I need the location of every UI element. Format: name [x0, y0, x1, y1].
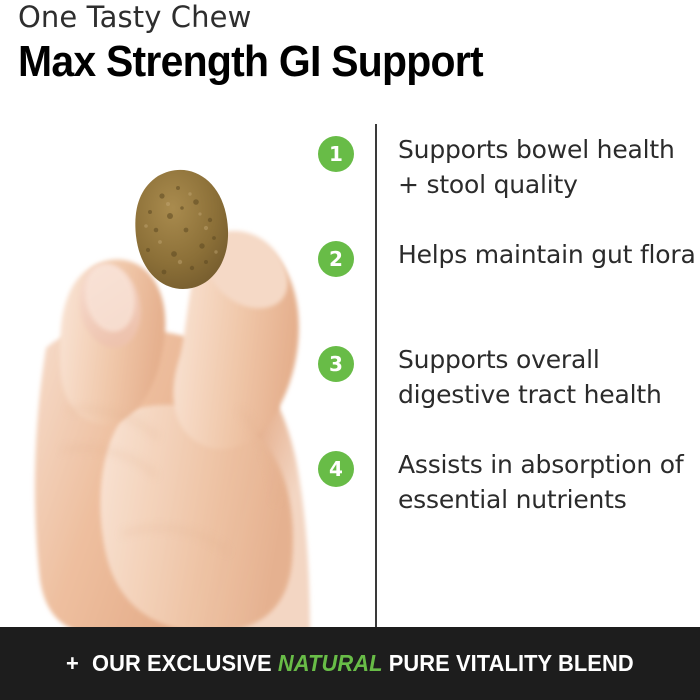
banner-prefix: OUR EXCLUSIVE — [92, 650, 272, 676]
infographic-page: One Tasty Chew Max Strength GI Support — [0, 0, 700, 700]
banner-suffix: PURE VITALITY BLEND — [389, 650, 634, 676]
header: One Tasty Chew Max Strength GI Support — [18, 0, 682, 88]
product-image — [0, 100, 360, 628]
benefit-text: Helps maintain gut flora — [398, 237, 700, 272]
benefit-text: Supports bowel health + stool quality — [398, 132, 700, 202]
list-item: 3 Supports overall digestive tract healt… — [318, 342, 700, 447]
list-item: 4 Assists in absorption of essential nut… — [318, 447, 700, 552]
banner-tagline: OUR EXCLUSIVE NATURAL PURE VITALITY BLEN… — [92, 650, 634, 677]
list-item: 2 Helps maintain gut flora — [318, 237, 700, 342]
page-title: Max Strength GI Support — [18, 36, 636, 88]
banner-highlight: NATURAL — [278, 650, 383, 676]
plus-icon: + — [66, 652, 79, 675]
benefits-list: 1 Supports bowel health + stool quality … — [318, 132, 700, 552]
benefit-text: Assists in absorption of essential nutri… — [398, 447, 700, 517]
benefit-number-badge: 2 — [318, 241, 354, 277]
benefit-number-badge: 1 — [318, 136, 354, 172]
list-item: 1 Supports bowel health + stool quality — [318, 132, 700, 237]
eyebrow-text: One Tasty Chew — [18, 0, 682, 34]
banner-content: + OUR EXCLUSIVE NATURAL PURE VITALITY BL… — [66, 650, 634, 677]
bottom-banner: + OUR EXCLUSIVE NATURAL PURE VITALITY BL… — [0, 627, 700, 700]
benefit-number-badge: 4 — [318, 451, 354, 487]
hand-holding-chew-illustration — [10, 110, 330, 628]
benefit-number-badge: 3 — [318, 346, 354, 382]
benefit-text: Supports overall digestive tract health — [398, 342, 700, 412]
